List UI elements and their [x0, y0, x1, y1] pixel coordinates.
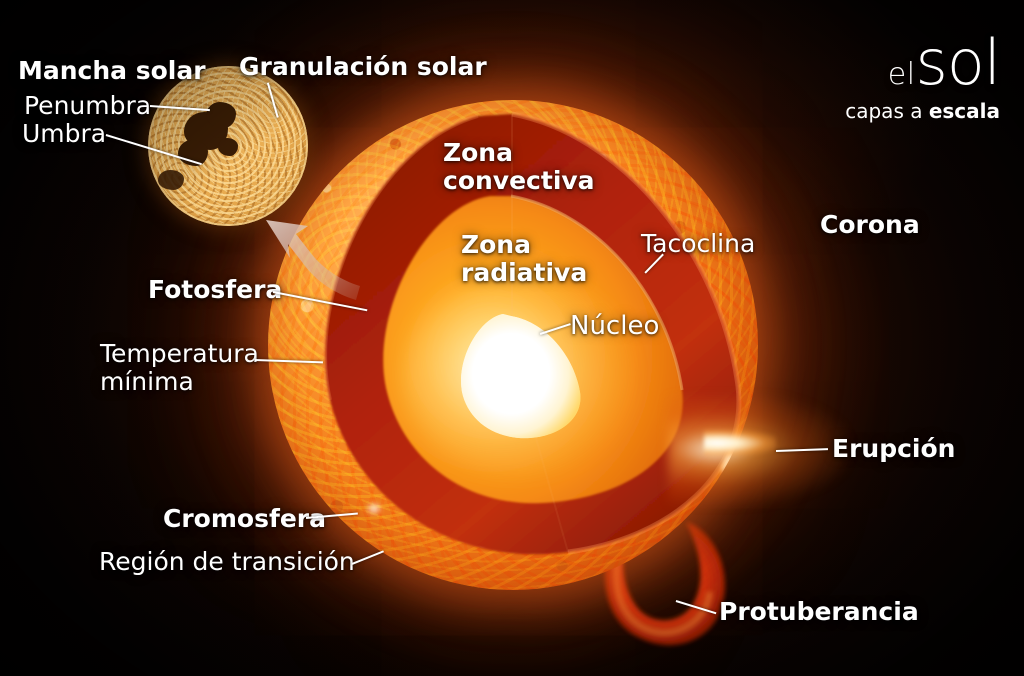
label-photosphere: Fotosfera: [148, 276, 282, 304]
subtitle: capas a escala: [845, 99, 1000, 123]
label-prominence: Protuberancia: [719, 598, 919, 626]
title-article: el: [888, 57, 916, 92]
label-tachocline: Tacoclina: [641, 230, 755, 258]
label-corona: Corona: [820, 211, 920, 239]
label-sunspot: Mancha solar: [18, 57, 206, 85]
sun-diagram: elsol capas a escala Mancha solar Penumb…: [0, 0, 1024, 676]
label-temperature-minimum: Temperatura mínima: [100, 340, 259, 396]
label-umbra: Umbra: [22, 120, 106, 148]
label-core: Núcleo: [570, 312, 659, 341]
subtitle-lead: capas a: [845, 99, 929, 123]
label-chromosphere: Cromosfera: [163, 505, 326, 533]
label-convective-zone: Zona convectiva: [443, 139, 595, 195]
solar-flare-core: [704, 430, 776, 456]
label-granulation: Granulación solar: [239, 53, 487, 81]
label-flare: Erupción: [832, 435, 955, 463]
title-word: sol: [916, 26, 1000, 99]
subtitle-emphasis: escala: [929, 99, 1000, 123]
label-transition-region: Región de transición: [99, 548, 355, 576]
label-radiative-zone: Zona radiativa: [461, 231, 587, 287]
page-title: elsol: [888, 26, 1000, 99]
label-penumbra: Penumbra: [24, 92, 151, 120]
